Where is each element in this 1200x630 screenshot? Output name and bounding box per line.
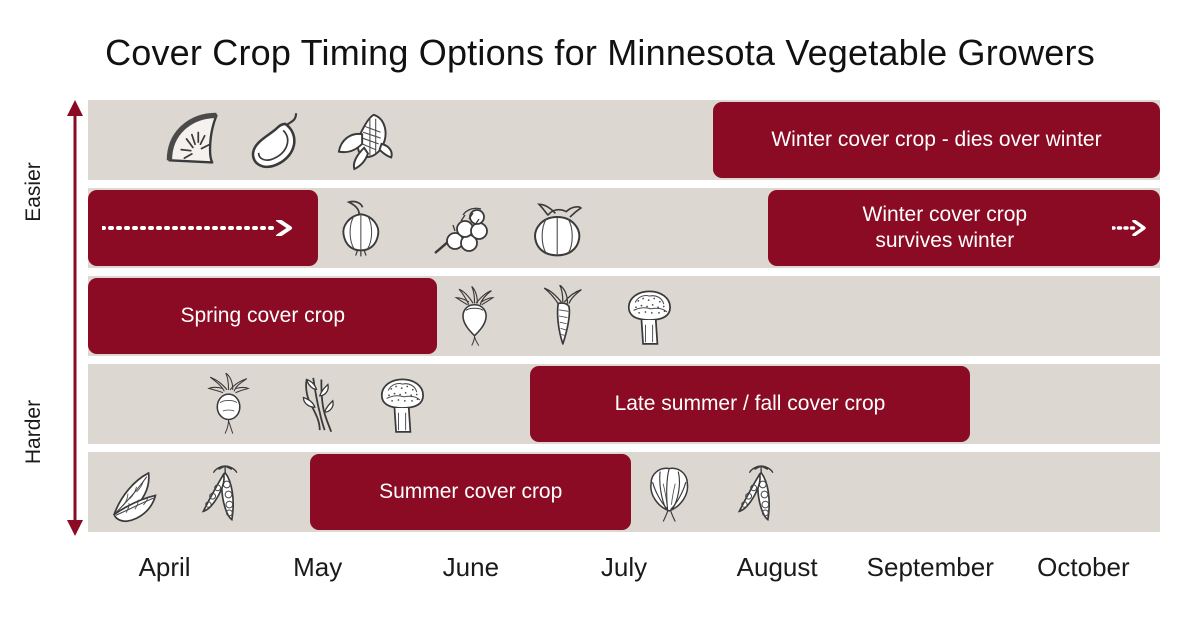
timeline-row: Summer cover crop [88, 452, 1160, 532]
month-axis: AprilMayJuneJulyAugustSeptemberOctober [88, 552, 1160, 602]
vegetable-illustration [292, 370, 338, 438]
cover-crop-bar-label: Late summer / fall cover crop [601, 391, 900, 417]
vegetable-illustration [249, 106, 311, 174]
vegetable-illustration [335, 194, 387, 262]
month-label-august: August [701, 552, 854, 602]
cover-crop-bar[interactable]: Spring cover crop [88, 278, 437, 354]
month-label-may: May [241, 552, 394, 602]
cover-crop-bar-label: Summer cover crop [365, 479, 576, 505]
spinach-leaves-icon [109, 461, 159, 523]
cover-crop-bar-label: Spring cover crop [166, 303, 359, 329]
broccoli-icon [624, 285, 673, 347]
timeline-row: Spring cover crop [88, 276, 1160, 356]
dotted-arrow-long-icon [102, 220, 294, 236]
timeline-rows: Winter cover crop - dies over winterWint… [88, 100, 1160, 536]
cover-crop-bar[interactable]: Late summer / fall cover crop [530, 366, 971, 442]
vegetable-illustration [163, 106, 225, 174]
month-label-september: September [854, 552, 1007, 602]
continuation-bar-left[interactable] [88, 190, 318, 266]
green-beans-icon [292, 373, 338, 435]
vegetable-illustration [452, 282, 496, 350]
cherry-tomatoes-on-vine-icon [431, 197, 489, 259]
onion-icon [335, 197, 387, 259]
cover-crop-bar[interactable]: Winter cover crop - dies over winter [713, 102, 1160, 178]
difficulty-axis: Easier Harder [12, 100, 84, 536]
timeline-row: Winter cover cropsurvives winter [88, 188, 1160, 268]
lettuce-head-icon [645, 461, 692, 523]
axis-label-harder: Harder [22, 382, 46, 482]
vegetable-illustration [528, 194, 586, 262]
tomato-icon [528, 197, 586, 259]
broccoli-icon [377, 373, 426, 435]
watermelon-slice-icon [163, 109, 225, 171]
vegetable-illustration [731, 458, 778, 526]
timeline-row: Late summer / fall cover crop [88, 364, 1160, 444]
beet-icon [452, 285, 496, 347]
vegetable-illustration [431, 194, 489, 262]
dotted-arrow-short-icon [1112, 220, 1146, 236]
vegetable-illustration [109, 458, 159, 526]
cover-crop-bar-label: Winter cover cropsurvives winter [849, 202, 1080, 255]
vegetable-illustration [335, 106, 395, 174]
vegetable-illustration [377, 370, 426, 438]
month-label-april: April [88, 552, 241, 602]
pea-pods-icon [195, 461, 242, 523]
vegetable-illustration [538, 282, 586, 350]
cover-crop-bar[interactable]: Winter cover cropsurvives winter [768, 190, 1160, 266]
corn-cob-icon [335, 109, 395, 171]
month-label-july: July [547, 552, 700, 602]
difficulty-double-arrow-icon [64, 100, 86, 536]
cover-crop-bar[interactable]: Summer cover crop [310, 454, 632, 530]
page-title: Cover Crop Timing Options for Minnesota … [0, 32, 1200, 74]
cucumber-icon [249, 109, 311, 171]
month-label-june: June [394, 552, 547, 602]
month-label-october: October [1007, 552, 1160, 602]
vegetable-illustration [206, 370, 250, 438]
vegetable-illustration [645, 458, 692, 526]
axis-label-easier: Easier [22, 142, 46, 242]
vegetable-illustration [195, 458, 242, 526]
carrot-icon [538, 285, 586, 347]
vegetable-illustration [624, 282, 673, 350]
cover-crop-bar-label: Winter cover crop - dies over winter [757, 127, 1115, 153]
pea-pods-icon [731, 461, 778, 523]
radish-icon [206, 373, 250, 435]
timeline-row: Winter cover crop - dies over winter [88, 100, 1160, 180]
cover-crop-bar-label-line2: survives winter [863, 228, 1028, 254]
